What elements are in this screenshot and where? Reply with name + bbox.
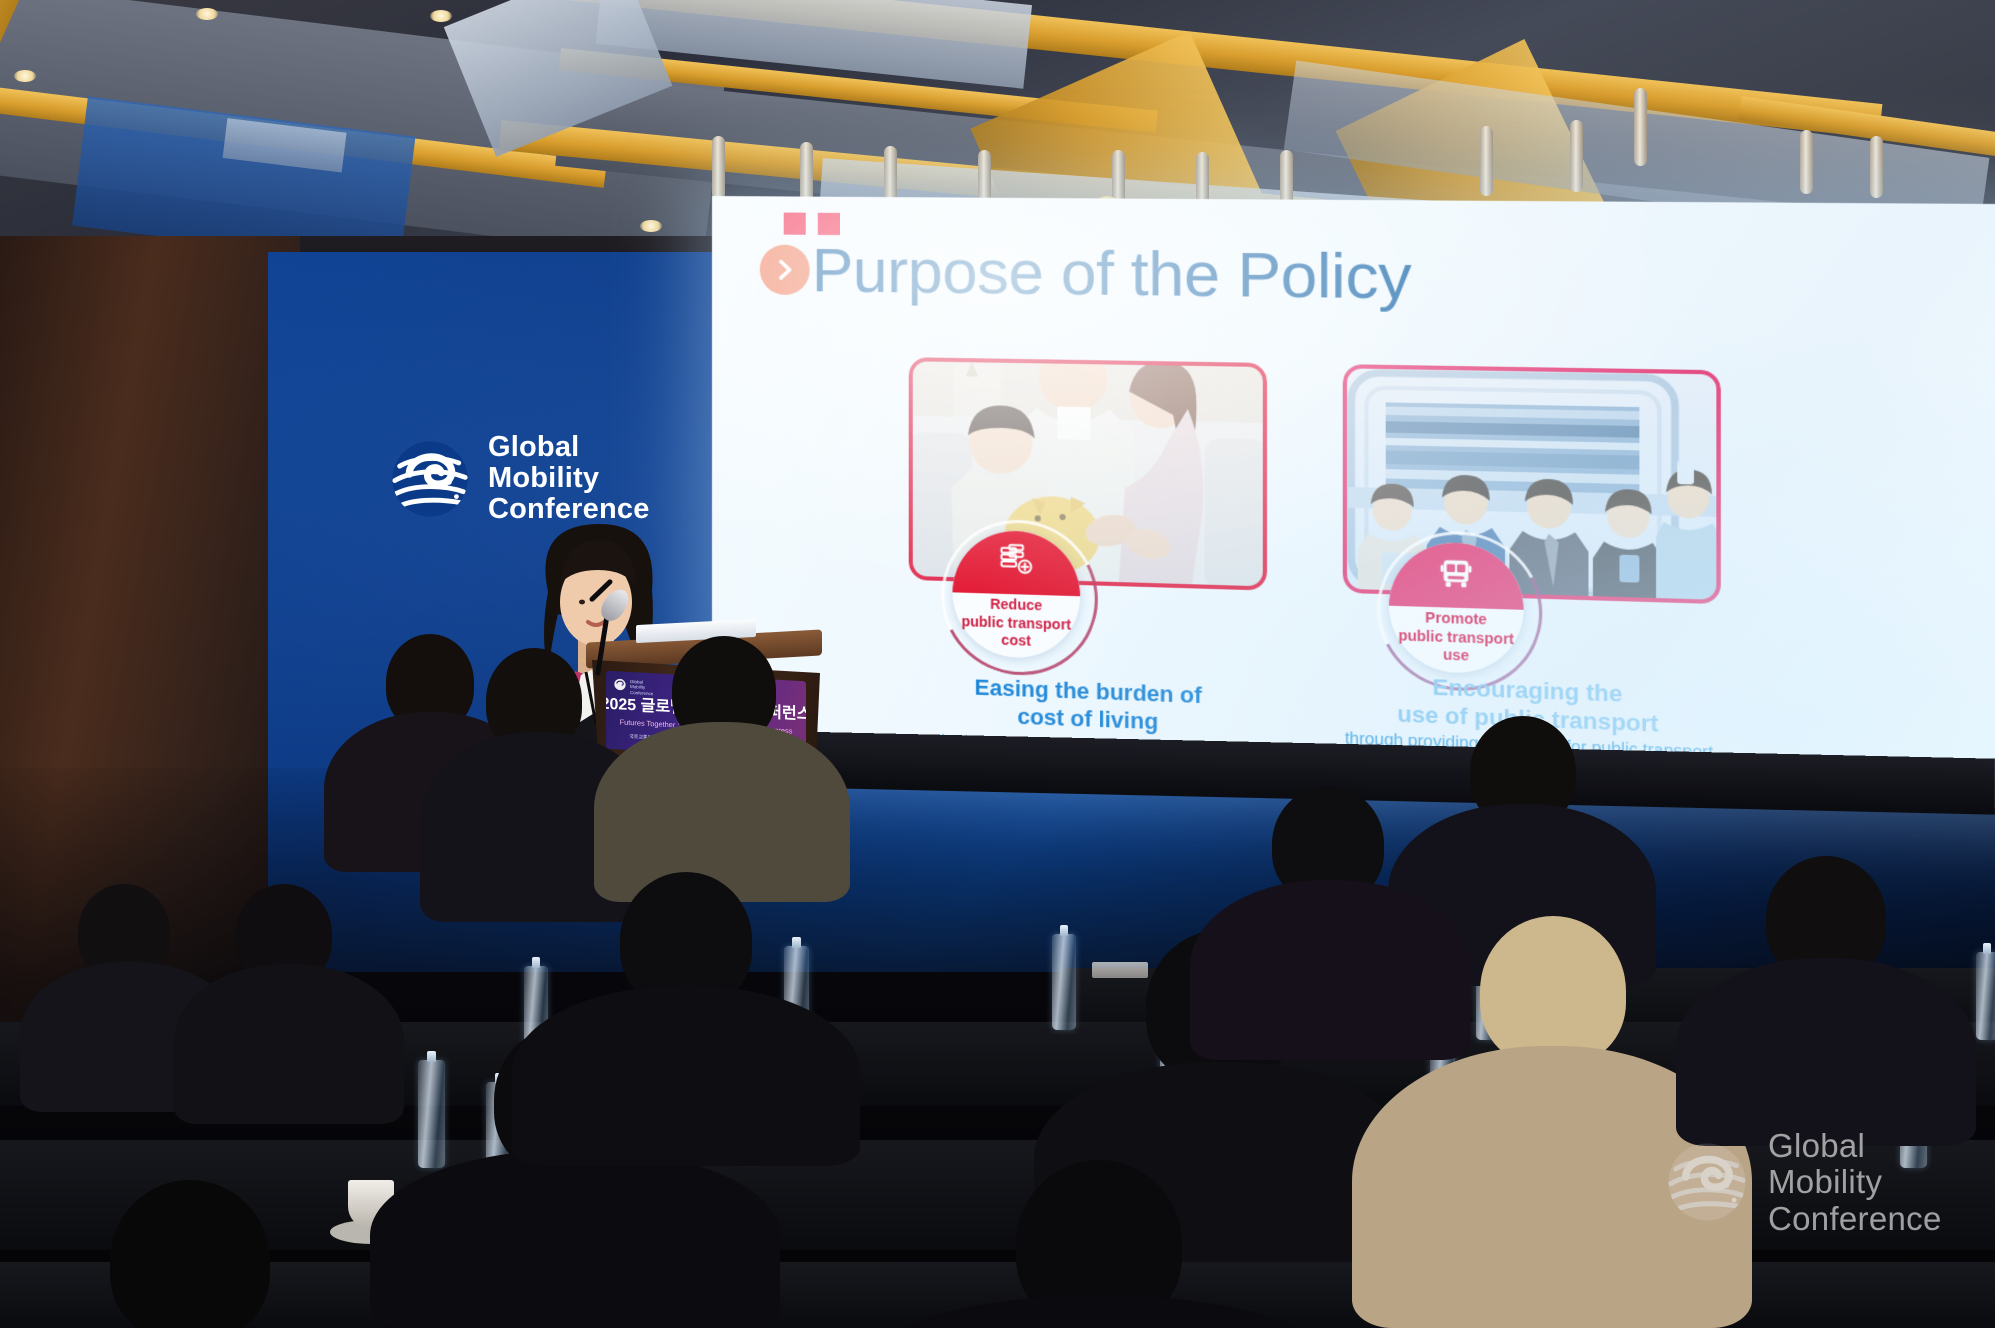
watermark-line3: Conference (1768, 1200, 1942, 1237)
globe-swirl-icon (614, 677, 626, 696)
water-bottle (1976, 952, 1995, 1040)
backdrop-brand-line2: Mobility (488, 462, 599, 494)
chevron-right-circle-icon (760, 244, 810, 295)
table-nameplate (1092, 962, 1148, 978)
badge-label-line3: use (1443, 646, 1469, 664)
badge-label-line2: public transport (1398, 626, 1514, 646)
bus-icon (1435, 552, 1476, 598)
water-bottle (1052, 934, 1076, 1030)
slide-title: Purpose of the Policy (812, 235, 1411, 314)
badge-label-line1: Reduce (990, 596, 1042, 614)
conference-photo: Global Mobility Conference (0, 0, 1995, 1328)
projection-screen: Purpose of the Policy (712, 196, 1995, 813)
backdrop-brand-line3: Conference (488, 493, 650, 525)
watermark-line2: Mobility (1768, 1163, 1882, 1200)
backdrop-brand-line1: Global (488, 431, 579, 463)
accent-square-1 (784, 213, 806, 235)
watermark-line1: Global (1768, 1127, 1865, 1164)
badge-label-reduce-cost: Reduce public transport cost (953, 595, 1081, 651)
backdrop-brand-lockup: Global Mobility Conference (390, 432, 650, 525)
badge-label-line3: cost (1001, 631, 1031, 648)
coin-stack-plus-icon (997, 540, 1036, 585)
badge-label-line1: Promote (1425, 609, 1487, 628)
accent-square-2 (818, 213, 840, 235)
water-bottle (418, 1060, 445, 1168)
globe-swirl-icon (1666, 1141, 1748, 1223)
watermark-brand-lockup: Global Mobility Conference (1666, 1128, 1942, 1237)
slide: Purpose of the Policy (712, 196, 1995, 813)
badge-label-line2: public transport (961, 612, 1071, 632)
globe-swirl-icon (390, 439, 470, 519)
badge-label-promote-use: Promote public transport use (1389, 608, 1524, 666)
